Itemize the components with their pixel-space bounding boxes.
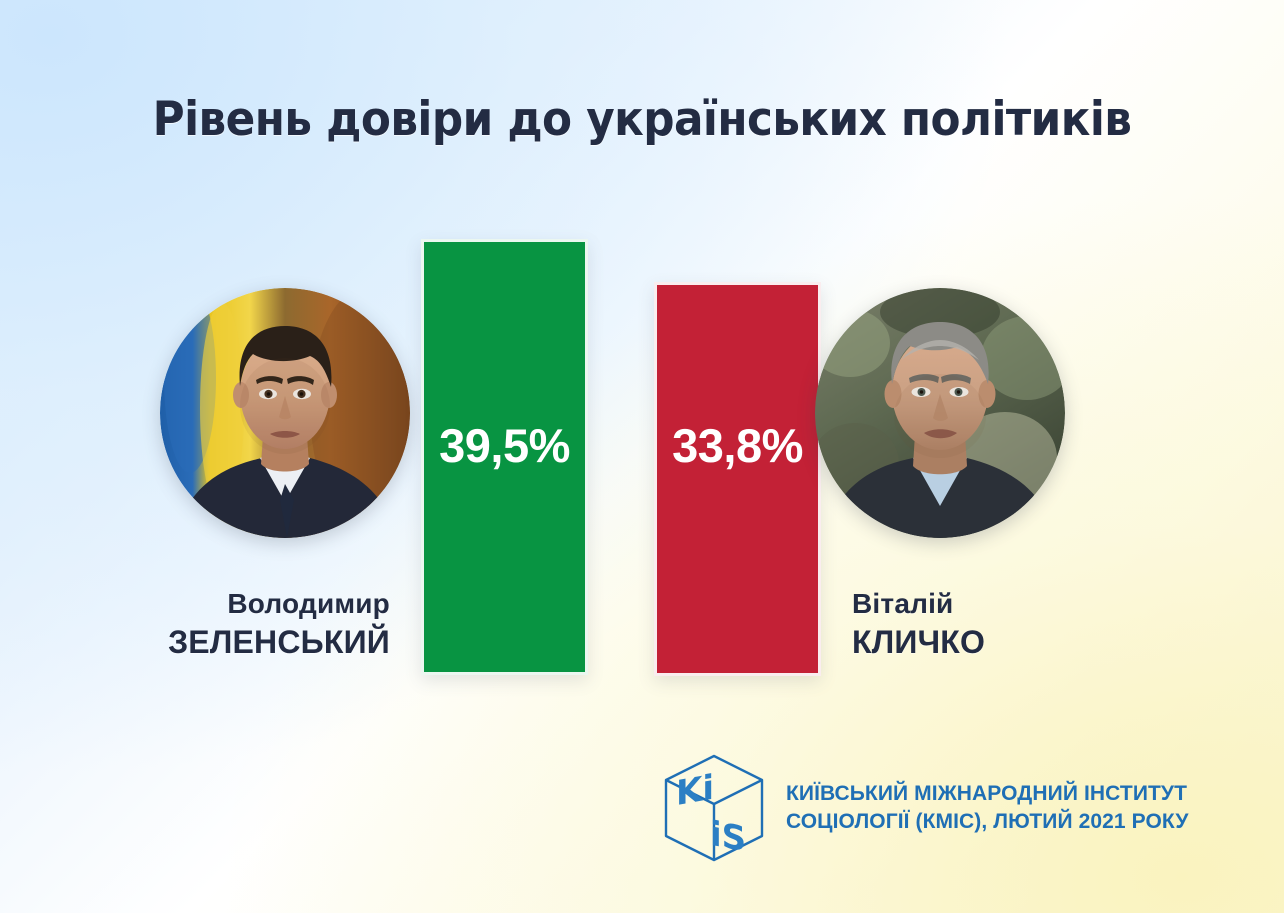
label-zelensky: Володимир ЗЕЛЕНСЬКИЙ: [90, 590, 390, 658]
first-name-zelensky: Володимир: [90, 590, 390, 618]
infographic-canvas: Рівень довіри до українських політиків: [0, 0, 1284, 913]
page-title: Рівень довіри до українських політиків: [45, 96, 1239, 143]
source-line-1: КИЇВСЬКИЙ МІЖНАРОДНИЙ ІНСТИТУТ: [786, 780, 1189, 808]
first-name-klitschko: Віталій: [852, 590, 1172, 618]
avatar-zelensky: [160, 288, 410, 538]
last-name-zelensky: ЗЕЛЕНСЬКИЙ: [90, 626, 390, 658]
svg-text:iS: iS: [710, 814, 746, 860]
svg-text:Ki: Ki: [676, 768, 714, 814]
bar-klitschko: 33,8%: [654, 282, 821, 676]
source-line-2: СОЦІОЛОГІЇ (КМІС), ЛЮТИЙ 2021 РОКУ: [786, 808, 1189, 836]
label-klitschko: Віталій КЛИЧКО: [852, 590, 1172, 658]
footer: Ki iS КИЇВСЬКИЙ МІЖНАРОДНИЙ ІНСТИТУТ СОЦ…: [660, 752, 1189, 864]
source-text: КИЇВСЬКИЙ МІЖНАРОДНИЙ ІНСТИТУТ СОЦІОЛОГІ…: [786, 780, 1189, 837]
bar-value-zelensky: 39,5%: [424, 422, 585, 469]
last-name-klitschko: КЛИЧКО: [852, 626, 1172, 658]
kiis-logo-icon: Ki iS: [660, 752, 768, 864]
avatar-klitschko: [815, 288, 1065, 538]
bar-value-klitschko: 33,8%: [657, 422, 818, 469]
bar-zelensky: 39,5%: [421, 239, 588, 675]
